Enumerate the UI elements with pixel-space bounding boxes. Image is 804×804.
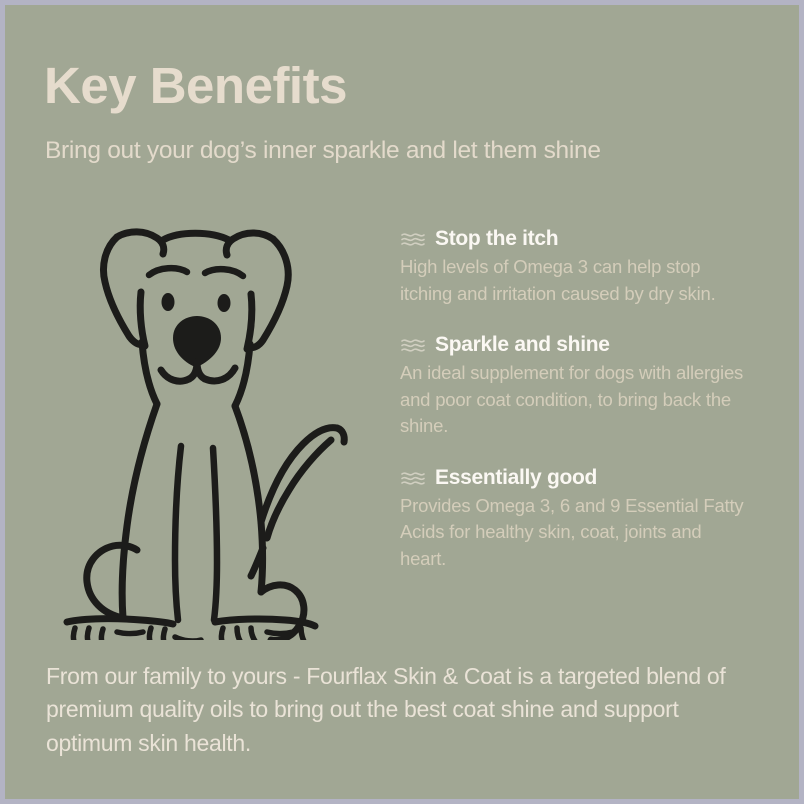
benefit-description: High levels of Omega 3 can help stop itc… xyxy=(400,254,752,307)
benefit-description: Provides Omega 3, 6 and 9 Essential Fatt… xyxy=(400,493,752,572)
benefit-heading-row: Stop the itch xyxy=(400,227,790,251)
dog-body-outline xyxy=(122,404,262,618)
wave-icon xyxy=(400,336,426,354)
dog-muzzle xyxy=(161,362,235,381)
page-subtitle: Bring out your dog’s inner sparkle and l… xyxy=(45,136,601,165)
dog-front-legs xyxy=(175,446,217,620)
benefit-heading-row: Essentially good xyxy=(400,466,790,490)
dog-illustration xyxy=(45,190,365,640)
benefit-title: Sparkle and shine xyxy=(435,333,610,357)
benefit-item-essentially-good: Essentially good Provides Omega 3, 6 and… xyxy=(400,466,790,573)
dog-paws xyxy=(67,619,315,626)
wave-icon xyxy=(400,469,426,487)
footer-text: From our family to yours - Fourflax Skin… xyxy=(46,660,758,760)
dog-eyes xyxy=(162,293,231,312)
benefit-heading-row: Sparkle and shine xyxy=(400,333,790,357)
benefit-item-sparkle-and-shine: Sparkle and shine An ideal supplement fo… xyxy=(400,333,790,440)
benefit-title: Stop the itch xyxy=(435,227,558,251)
benefit-title: Essentially good xyxy=(435,466,597,490)
dog-brows xyxy=(149,268,243,276)
wave-icon xyxy=(400,230,426,248)
page-title: Key Benefits xyxy=(44,59,347,113)
benefits-list: Stop the itch High levels of Omega 3 can… xyxy=(400,227,790,572)
key-benefits-card: Key Benefits Bring out your dog’s inner … xyxy=(5,5,799,799)
benefit-item-stop-the-itch: Stop the itch High levels of Omega 3 can… xyxy=(400,227,790,307)
benefit-description: An ideal supplement for dogs with allerg… xyxy=(400,360,752,439)
